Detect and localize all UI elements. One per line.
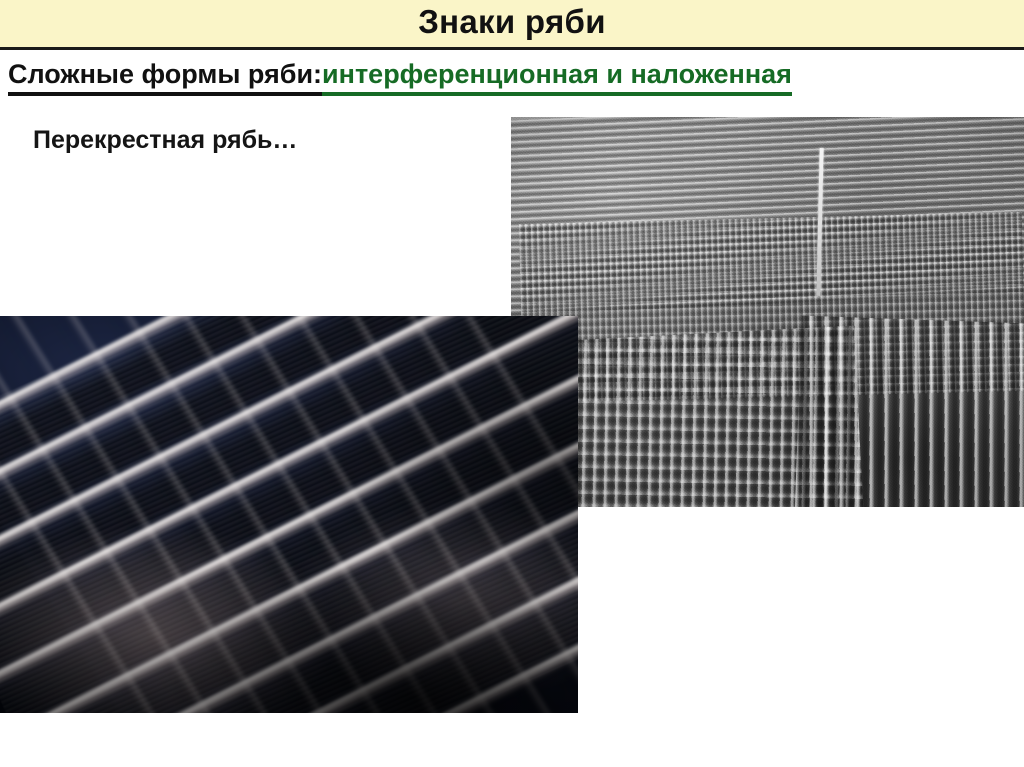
body-caption: Перекрестная рябь…	[33, 126, 297, 155]
interference-ripples-photo	[511, 117, 1024, 507]
cross-ripples-photo	[0, 316, 578, 713]
subtitle-highlight-text: интерференционная и наложенная	[322, 57, 792, 96]
subtitle-lead-text: Сложные формы ряби:	[8, 57, 322, 96]
slide-canvas: Знаки ряби Сложные формы ряби: интерфере…	[0, 0, 1024, 767]
page-title: Знаки ряби	[0, 1, 1024, 43]
photo-vignette	[511, 117, 1024, 507]
shadow-overlay	[0, 316, 578, 713]
subtitle-line: Сложные формы ряби: интерференционная и …	[8, 57, 1022, 97]
